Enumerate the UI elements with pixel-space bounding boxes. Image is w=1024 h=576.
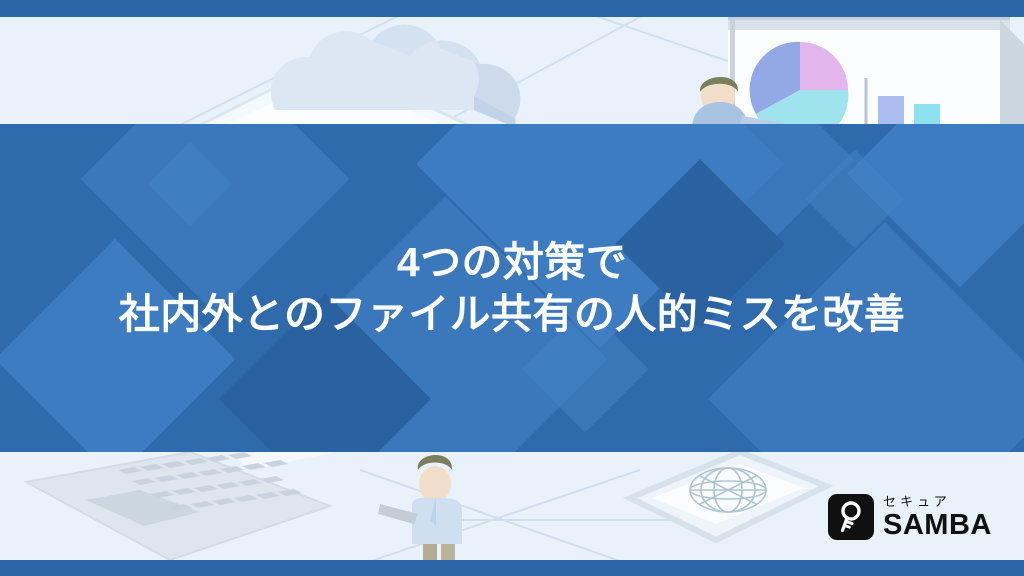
logo-kana: セキュア (883, 495, 992, 508)
top-accent-bar (0, 0, 1024, 17)
title-block: 4つの対策で 社内外とのファイル共有の人的ミスを改善 (0, 124, 1024, 452)
bottom-accent-bar (0, 560, 1024, 576)
title-line-2: 社内外とのファイル共有の人的ミスを改善 (119, 288, 905, 340)
title-line-1: 4つの対策で (397, 236, 627, 288)
logo-text: セキュア SAMBA (883, 495, 992, 540)
logo-mark (828, 494, 874, 540)
brand-logo: セキュア SAMBA (828, 494, 992, 540)
slide-canvas: 4つの対策で 社内外とのファイル共有の人的ミスを改善 セキュア SAMBA (0, 0, 1024, 576)
key-icon (836, 501, 866, 533)
logo-name: SAMBA (883, 511, 992, 540)
